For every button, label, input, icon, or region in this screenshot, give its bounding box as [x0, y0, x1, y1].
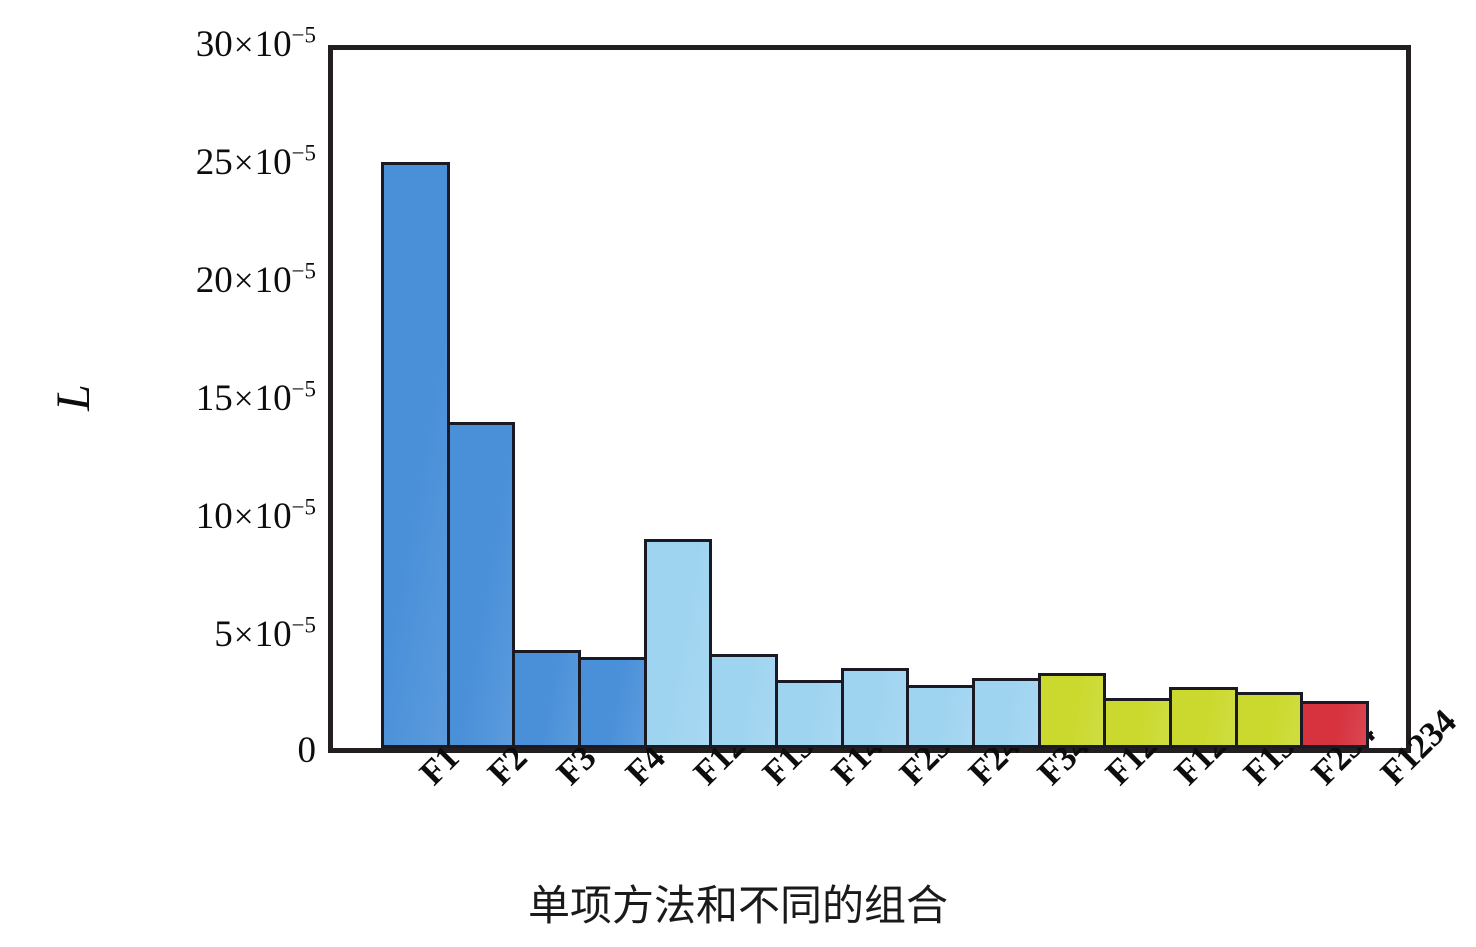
bars-container: [333, 50, 1406, 748]
bar-F124: [1103, 698, 1172, 748]
bar-F14: [775, 680, 844, 748]
x-axis-title: 单项方法和不同的组合: [0, 872, 1476, 933]
bar-F4: [578, 657, 647, 748]
bar-F13: [709, 654, 778, 748]
bar-F1: [381, 162, 450, 748]
bar-F34: [972, 678, 1041, 748]
ytick-label-20: 20×10−5: [196, 262, 316, 299]
ytick-label-10: 10×10−5: [196, 498, 316, 535]
bar-F234: [1235, 692, 1304, 748]
bar-F134: [1169, 687, 1238, 748]
y-axis-title: L: [46, 384, 101, 411]
x-tick-labels: F1F2F3F4F12F13F14F23F24F34F123F124F134F2…: [328, 753, 1411, 883]
bar-F1234: [1300, 701, 1369, 748]
bar-F23: [841, 668, 910, 748]
ytick-label-0: 0: [298, 732, 317, 769]
bar-F3: [512, 650, 581, 748]
bar-F24: [906, 685, 975, 748]
bar-chart-figure: 30×10−5 25×10−5 20×10−5 15×10−5 10×10−5 …: [0, 0, 1476, 947]
ytick-label-30: 30×10−5: [196, 26, 316, 63]
bar-F123: [1038, 673, 1107, 748]
ytick-label-25: 25×10−5: [196, 144, 316, 181]
ytick-label-5: 5×10−5: [214, 616, 316, 653]
plot-area: [328, 45, 1411, 753]
bar-F2: [447, 422, 516, 748]
bar-F12: [644, 539, 713, 748]
ytick-label-15: 15×10−5: [196, 380, 316, 417]
